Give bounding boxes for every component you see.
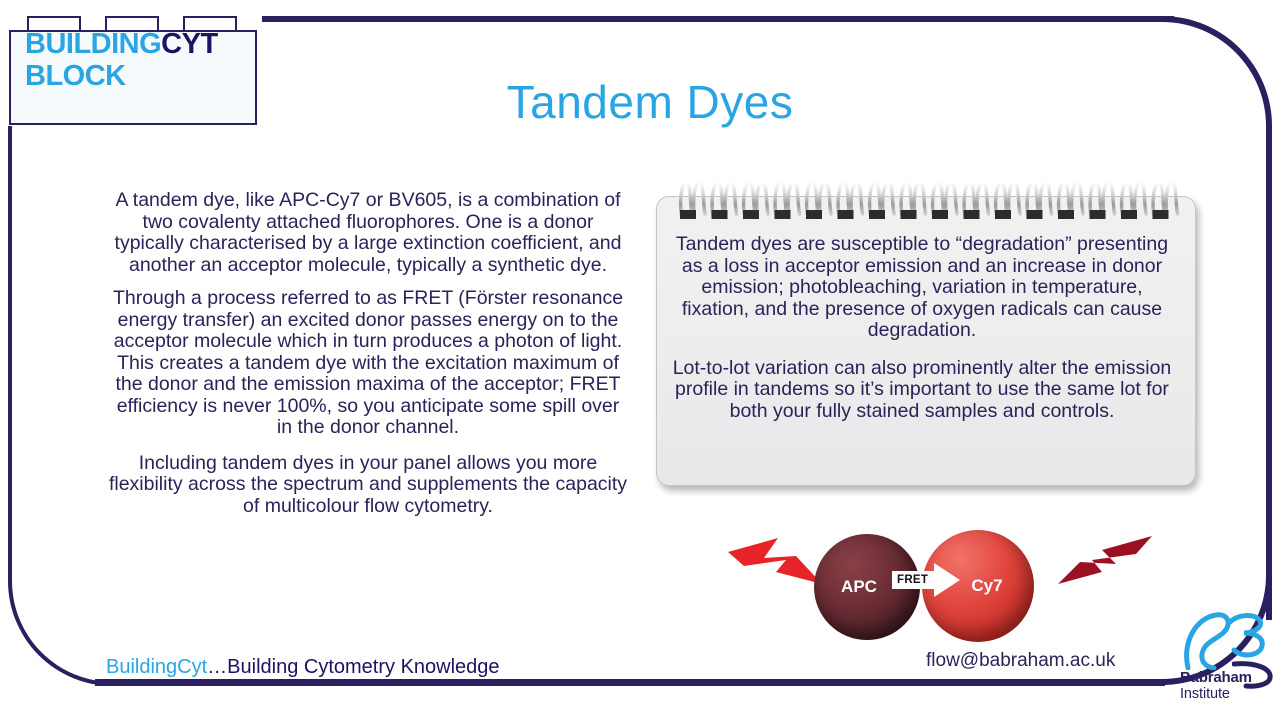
- notepad-paragraph-1: Tandem dyes are susceptible to “degradat…: [668, 234, 1176, 342]
- frame-top-bar: [262, 16, 1174, 22]
- footer-tagline-rest: …Building Cytometry Knowledge: [207, 656, 499, 678]
- notepad-graphic: Tandem dyes are susceptible to “degradat…: [652, 168, 1200, 488]
- footer-tagline: BuildingCyt…Building Cytometry Knowledge: [106, 656, 500, 679]
- fret-arrow-icon: [934, 563, 960, 597]
- slide: BUILDINGCYT BLOCK Tandem Dyes A tandem d…: [0, 0, 1280, 720]
- notepad-text: Tandem dyes are susceptible to “degradat…: [668, 234, 1176, 438]
- paragraph-3: Including tandem dyes in your panel allo…: [108, 453, 628, 518]
- left-text-column: A tandem dye, like APC-Cy7 or BV605, is …: [108, 190, 628, 529]
- brick-label-building: BUILDING: [25, 28, 161, 60]
- babraham-institute-logo[interactable]: Babraham Institute: [1180, 612, 1276, 712]
- footer-tagline-accent: BuildingCyt: [106, 656, 207, 678]
- paragraph-2: Through a process referred to as FRET (F…: [108, 288, 628, 439]
- frame-left-edge: [8, 126, 12, 566]
- fret-diagram: APC Cy7 FRET: [726, 518, 1116, 648]
- brick-label: BUILDINGCYT BLOCK: [25, 28, 218, 92]
- institute-name-line1: Babraham: [1180, 669, 1252, 686]
- buildingcyt-block-logo[interactable]: BUILDINGCYT BLOCK: [9, 16, 257, 126]
- page-title: Tandem Dyes: [330, 75, 970, 129]
- notepad-paragraph-2: Lot-to-lot variation can also prominentl…: [668, 358, 1176, 423]
- spiral-binding-icon: [652, 168, 1200, 224]
- lightning-bolt-right-icon: [1044, 528, 1154, 584]
- frame-corner-top-right: [1100, 16, 1272, 186]
- frame-bottom-bar: [95, 679, 1165, 686]
- institute-name-line2: Institute: [1180, 686, 1230, 702]
- acceptor-label: Cy7: [971, 576, 1002, 596]
- brick-label-cyt: CYT: [161, 28, 218, 60]
- contact-email[interactable]: flow@babraham.ac.uk: [926, 650, 1115, 672]
- donor-label: APC: [841, 577, 877, 597]
- brick-label-block: BLOCK: [25, 60, 126, 92]
- fret-label: FRET: [892, 571, 932, 589]
- paragraph-1: A tandem dye, like APC-Cy7 or BV605, is …: [108, 190, 628, 276]
